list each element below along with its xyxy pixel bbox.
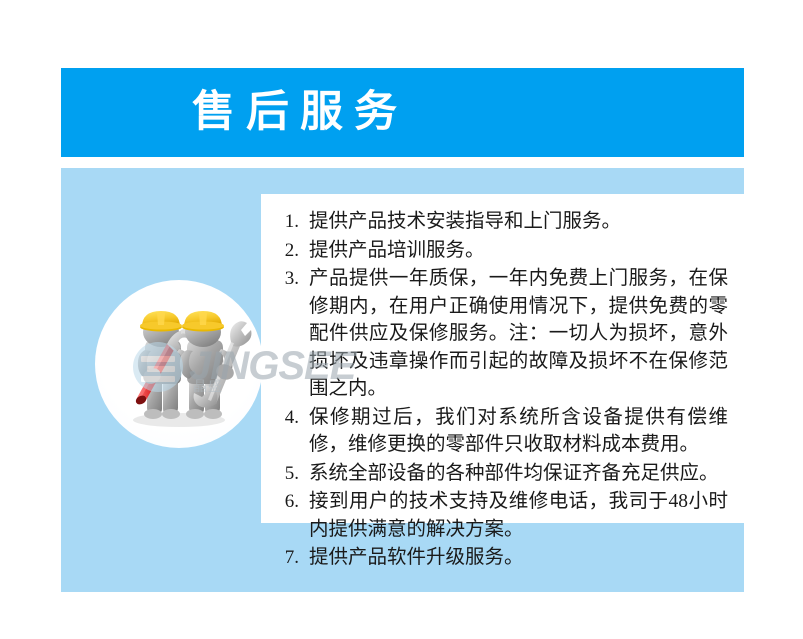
service-list: 1. 提供产品技术安装指导和上门服务。 2. 提供产品培训服务。 3. 产品提供…: [261, 194, 744, 572]
body-panel: 1. 提供产品技术安装指导和上门服务。 2. 提供产品培训服务。 3. 产品提供…: [61, 168, 744, 592]
list-item-text: 保修期过后，我们对系统所含设备提供有偿维修，维修更换的零部件只收取材料成本费用。: [309, 404, 728, 459]
worker-figure-right: [180, 311, 252, 419]
content-card: 1. 提供产品技术安装指导和上门服务。 2. 提供产品培训服务。 3. 产品提供…: [261, 194, 744, 523]
list-item: 1. 提供产品技术安装指导和上门服务。: [261, 208, 728, 236]
list-item-number: 4.: [261, 404, 309, 432]
list-item-number: 6.: [261, 488, 309, 516]
list-item: 4. 保修期过后，我们对系统所含设备提供有偿维修，维修更换的零部件只收取材料成本…: [261, 404, 728, 459]
worker-figures-icon: [95, 280, 263, 448]
list-item-text: 提供产品软件升级服务。: [309, 544, 728, 572]
list-item-text: 接到用户的技术支持及维修电话，我司于48小时内提供满意的解决方案。: [309, 488, 728, 543]
list-item: 2. 提供产品培训服务。: [261, 237, 728, 265]
list-item: 3. 产品提供一年质保，一年内免费上门服务，在保修期内，在用户正确使用情况下，提…: [261, 265, 728, 403]
list-item-number: 7.: [261, 544, 309, 572]
banner: 售后服务: [61, 68, 744, 157]
page-title: 售后服务: [181, 91, 408, 134]
list-item-number: 5.: [261, 460, 309, 488]
list-item: 6. 接到用户的技术支持及维修电话，我司于48小时内提供满意的解决方案。: [261, 488, 728, 543]
list-item: 5. 系统全部设备的各种部件均保证齐备充足供应。: [261, 460, 728, 488]
list-item: 7. 提供产品软件升级服务。: [261, 544, 728, 572]
list-item-number: 2.: [261, 237, 309, 265]
list-item-text: 系统全部设备的各种部件均保证齐备充足供应。: [309, 460, 728, 488]
list-item-text: 提供产品技术安装指导和上门服务。: [309, 208, 728, 236]
list-item-text: 提供产品培训服务。: [309, 237, 728, 265]
list-item-number: 1.: [261, 208, 309, 236]
list-item-number: 3.: [261, 265, 309, 293]
service-page: 售后服务: [0, 0, 803, 639]
list-item-text: 产品提供一年质保，一年内免费上门服务，在保修期内，在用户正确使用情况下，提供免费…: [309, 265, 728, 403]
worker-illustration: [95, 280, 263, 448]
